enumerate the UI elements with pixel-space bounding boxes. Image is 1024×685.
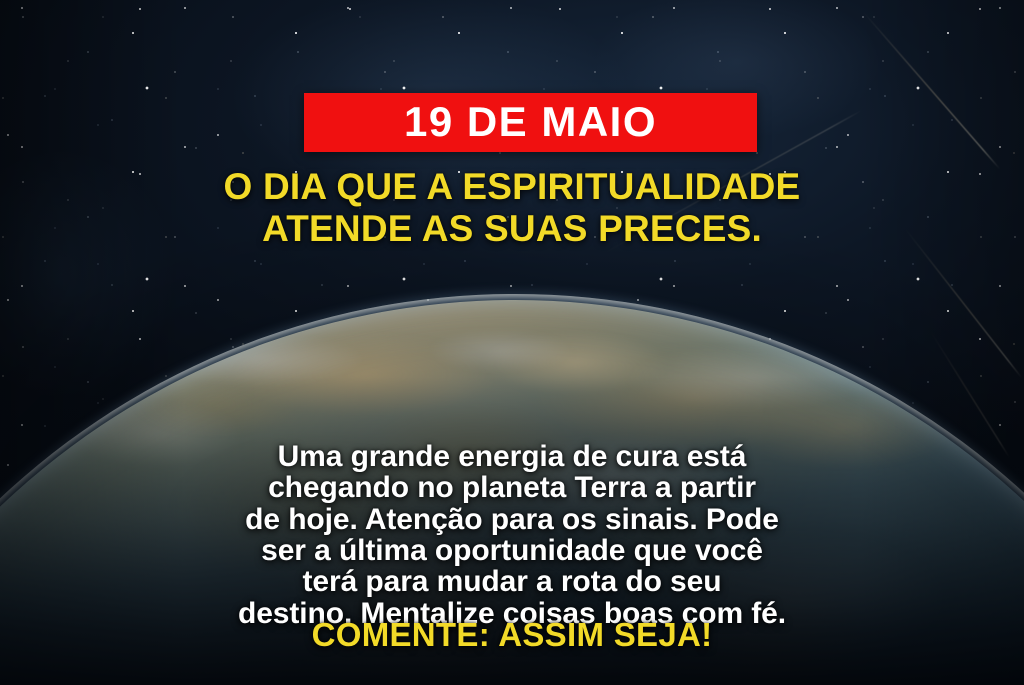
body-paragraph: Uma grande energia de cura está chegando… (0, 441, 1024, 629)
body-line-2: chegando no planeta Terra a partir (30, 472, 994, 503)
body-line-5: terá para mudar a rota do seu (30, 566, 994, 597)
call-to-action-text: COMENTE: ASSIM SEJA! (0, 617, 1024, 653)
headline-line-2: ATENDE AS SUAS PRECES. (40, 208, 984, 250)
poster-canvas: 19 DE MAIO O DIA QUE A ESPIRITUALIDADE A… (0, 0, 1024, 685)
headline-line-1: O DIA QUE A ESPIRITUALIDADE (40, 166, 984, 208)
body-line-1: Uma grande energia de cura está (30, 441, 994, 472)
headline: O DIA QUE A ESPIRITUALIDADE ATENDE AS SU… (0, 166, 1024, 250)
body-line-4: ser a última oportunidade que você (30, 535, 994, 566)
date-banner-label: 19 DE MAIO (404, 101, 657, 143)
date-banner: 19 DE MAIO (304, 93, 757, 152)
body-line-3: de hoje. Atenção para os sinais. Pode (30, 504, 994, 535)
poster-content: 19 DE MAIO O DIA QUE A ESPIRITUALIDADE A… (0, 0, 1024, 685)
